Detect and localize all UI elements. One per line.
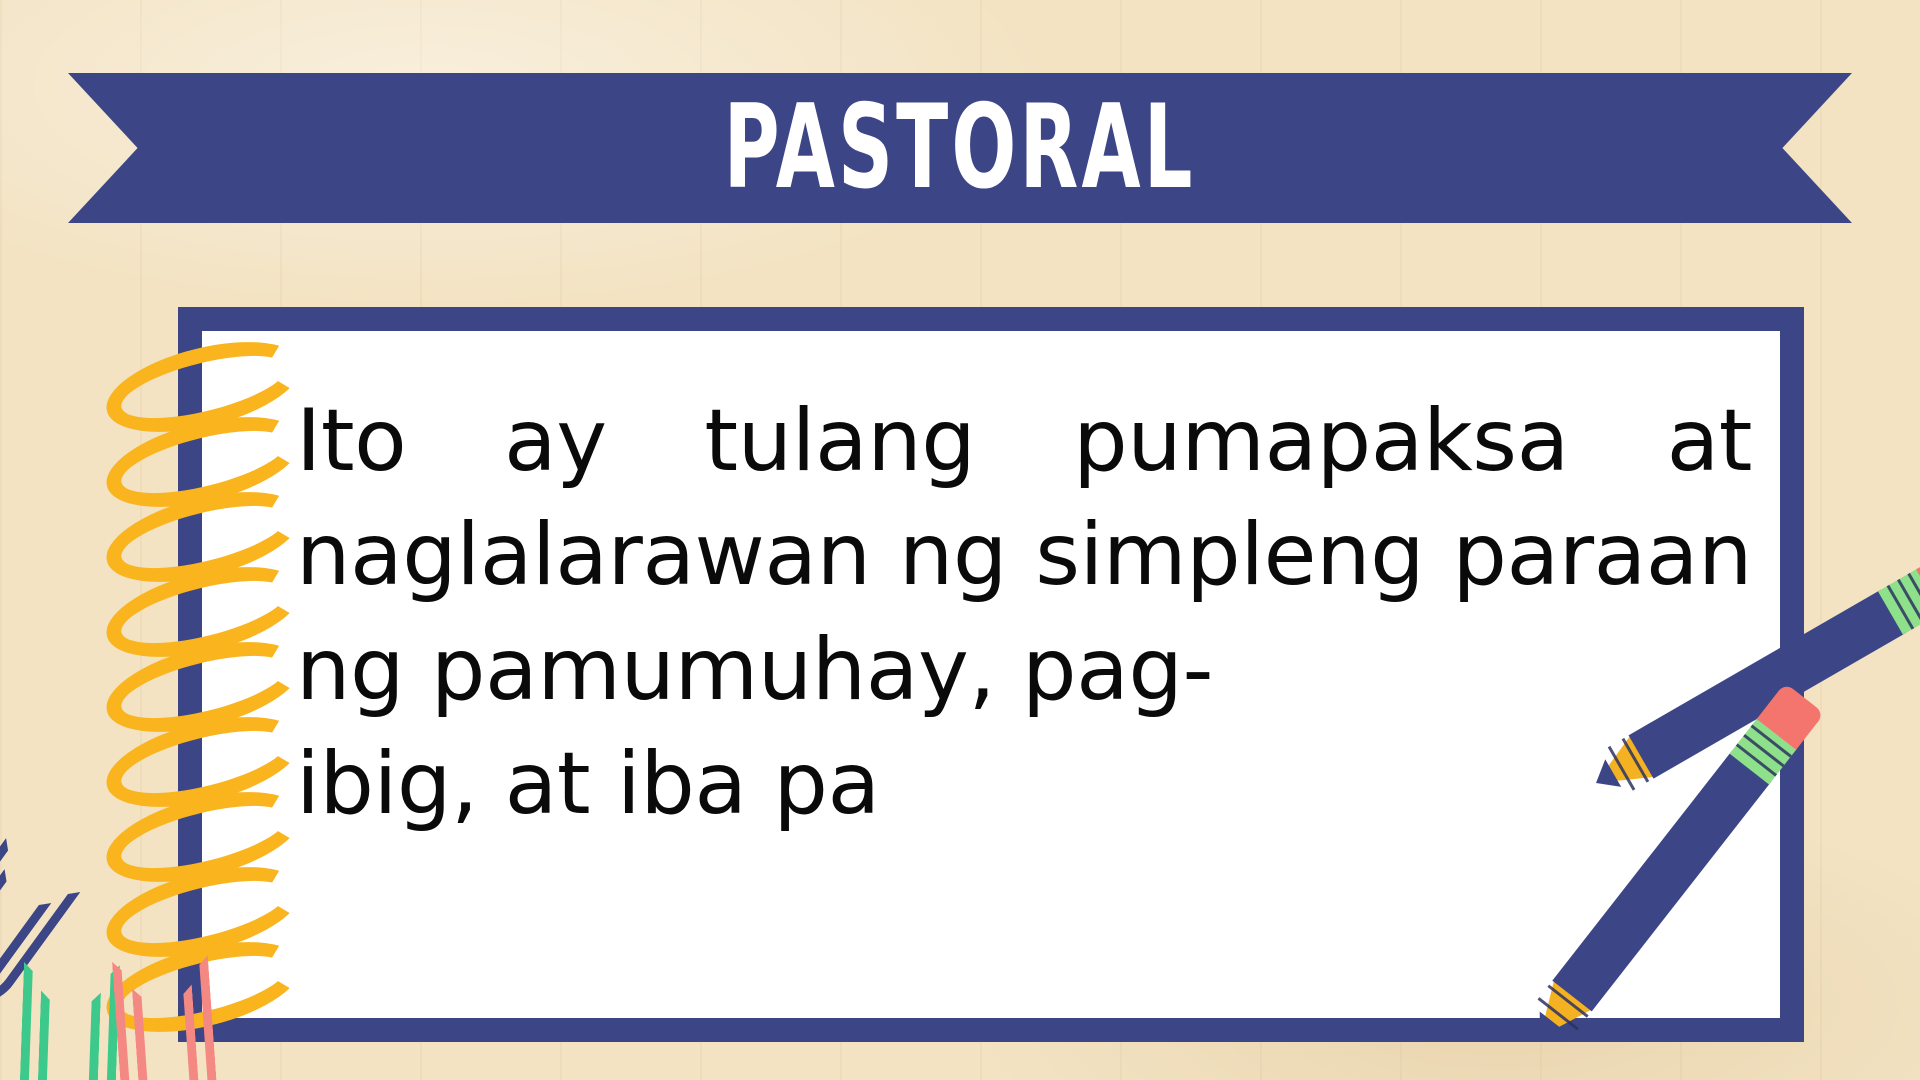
- body-paragraph-lastline: ibig, at iba pa: [296, 727, 1752, 841]
- slide-canvas: PASTORAL Ito ay tulang pumapaksa at nagl…: [0, 0, 1920, 1080]
- body-paragraph-main: Ito ay tulang pumapaksa at naglalarawan …: [296, 391, 1752, 720]
- title-banner: PASTORAL: [68, 73, 1852, 223]
- body-paragraph: Ito ay tulang pumapaksa at naglalarawan …: [296, 384, 1752, 842]
- page-title: PASTORAL: [724, 90, 1196, 206]
